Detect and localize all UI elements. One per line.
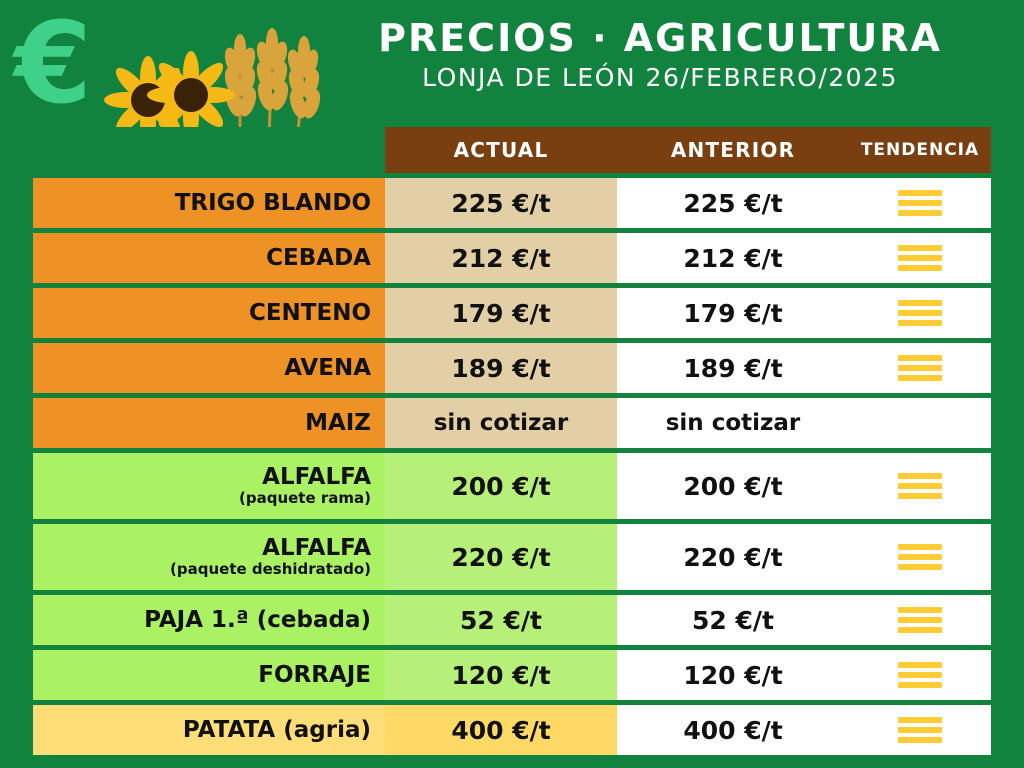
prices-table: ACTUAL ANTERIOR TENDENCIA TRIGO BLANDO 2… [33,122,991,760]
equal-trend-icon [898,190,942,216]
table-row: PAJA 1.ª (cebada) 52 €/t 52 €/t [33,595,991,645]
product-name: MAIZ [305,411,371,436]
trend-cell-empty [849,398,991,448]
column-header-actual: ACTUAL [385,127,617,173]
product-name: ALFALFA [262,536,371,561]
column-header-tendencia: TENDENCIA [849,127,991,173]
trend-cell [849,343,991,393]
trend-cell [849,178,991,228]
product-name-cell: TRIGO BLANDO [33,178,385,228]
euro-symbol-icon: € [14,8,92,120]
actual-value: 212 €/t [385,233,617,283]
trend-cell [849,595,991,645]
product-name-cell: CENTENO [33,288,385,338]
anterior-value: 120 €/t [617,650,849,700]
anterior-value: sin cotizar [617,398,849,448]
anterior-value: 52 €/t [617,595,849,645]
actual-value: sin cotizar [385,398,617,448]
equal-trend-icon [898,717,942,743]
product-name-sub: (paquete deshidratado) [170,561,371,578]
header: € [0,0,1024,122]
trend-cell [849,453,991,519]
table-row: AVENA 189 €/t 189 €/t [33,343,991,393]
product-name: AVENA [284,356,371,381]
trend-cell [849,524,991,590]
equal-trend-icon [898,662,942,688]
trend-cell [849,650,991,700]
table-row: ALFALFA (paquete deshidratado) 220 €/t 2… [33,524,991,590]
product-name-cell: CEBADA [33,233,385,283]
product-name-cell: FORRAJE [33,650,385,700]
equal-trend-icon [898,245,942,271]
product-name: ALFALFA [262,465,371,490]
header-blank-cell [33,127,385,173]
equal-trend-icon [898,607,942,633]
trend-cell [849,233,991,283]
anterior-value: 189 €/t [617,343,849,393]
product-name: CENTENO [249,301,371,326]
table-row: TRIGO BLANDO 225 €/t 225 €/t [33,178,991,228]
actual-value: 200 €/t [385,453,617,519]
column-header-anterior: ANTERIOR [617,127,849,173]
page-title: PRECIOS · AGRICULTURA [330,16,990,60]
actual-value: 400 €/t [385,705,617,755]
equal-trend-icon [898,473,942,499]
table-header-row: ACTUAL ANTERIOR TENDENCIA [33,127,991,173]
equal-trend-icon [898,355,942,381]
anterior-value: 400 €/t [617,705,849,755]
anterior-value: 220 €/t [617,524,849,590]
product-name: TRIGO BLANDO [175,191,371,216]
product-name-cell: AVENA [33,343,385,393]
product-name: PAJA 1.ª (cebada) [144,608,371,633]
anterior-value: 179 €/t [617,288,849,338]
table-row: FORRAJE 120 €/t 120 €/t [33,650,991,700]
product-name-cell: MAIZ [33,398,385,448]
trend-cell [849,705,991,755]
actual-value: 179 €/t [385,288,617,338]
infographic-page: € [0,0,1024,768]
product-name-cell: ALFALFA (paquete rama) [33,453,385,519]
equal-trend-icon [898,300,942,326]
title-block: PRECIOS · AGRICULTURA LONJA DE LEÓN 26/F… [330,16,990,94]
table-row: CENTENO 179 €/t 179 €/t [33,288,991,338]
anterior-value: 200 €/t [617,453,849,519]
actual-value: 225 €/t [385,178,617,228]
product-name: FORRAJE [258,663,371,688]
product-name: CEBADA [266,246,371,271]
actual-value: 189 €/t [385,343,617,393]
product-name-cell: PATATA (agria) [33,705,385,755]
product-name-sub: (paquete rama) [239,490,371,507]
table-row: ALFALFA (paquete rama) 200 €/t 200 €/t [33,453,991,519]
equal-trend-icon [898,544,942,570]
page-subtitle: LONJA DE LEÓN 26/FEBRERO/2025 [330,62,990,94]
anterior-value: 225 €/t [617,178,849,228]
actual-value: 120 €/t [385,650,617,700]
product-name: PATATA (agria) [183,718,371,743]
table-row: PATATA (agria) 400 €/t 400 €/t [33,705,991,755]
table-row: CEBADA 212 €/t 212 €/t [33,233,991,283]
trend-cell [849,288,991,338]
table-row: MAIZ sin cotizar sin cotizar [33,398,991,448]
product-name-cell: PAJA 1.ª (cebada) [33,595,385,645]
actual-value: 220 €/t [385,524,617,590]
product-name-cell: ALFALFA (paquete deshidratado) [33,524,385,590]
actual-value: 52 €/t [385,595,617,645]
anterior-value: 212 €/t [617,233,849,283]
